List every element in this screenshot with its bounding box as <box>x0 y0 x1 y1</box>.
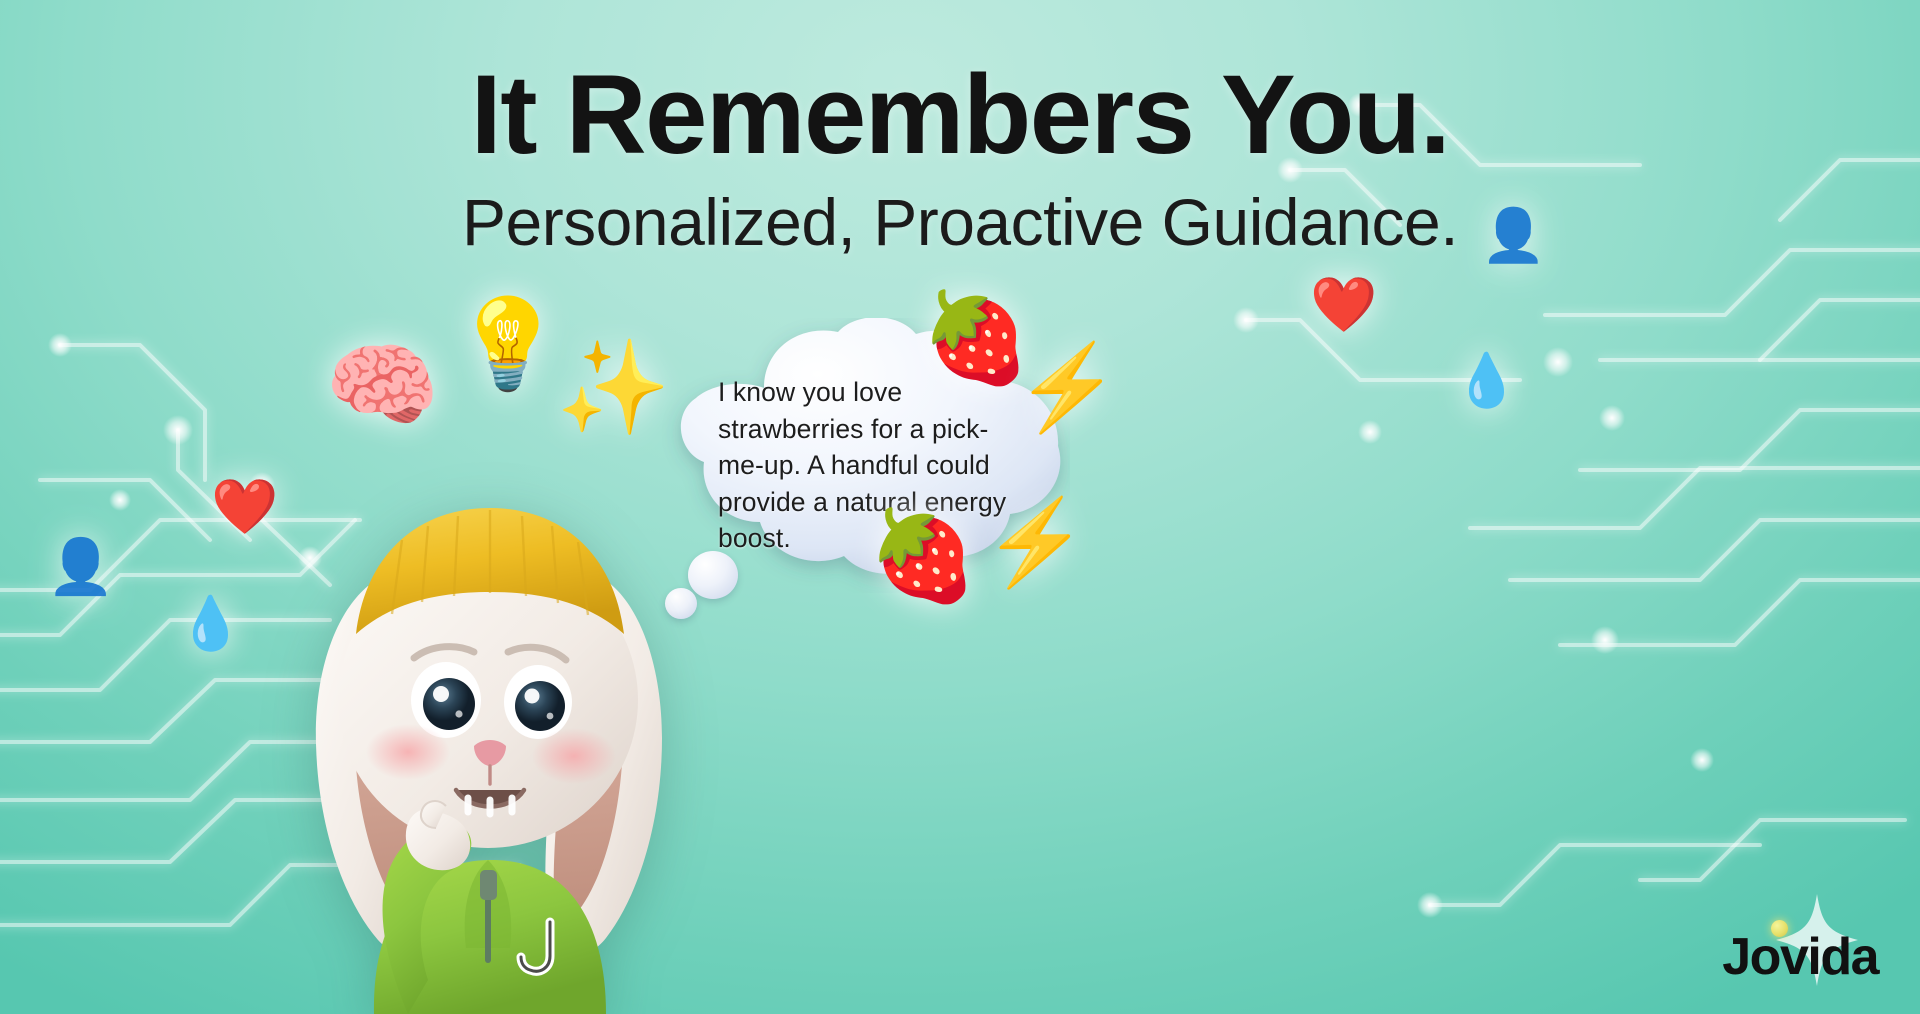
light-bulb-emoji: 💡 <box>453 300 563 388</box>
droplet-icon-right: 💧 <box>1454 355 1519 407</box>
brand-name: Jovida <box>1722 927 1878 987</box>
page-subtitle: Personalized, Proactive Guidance. <box>0 188 1920 257</box>
high-voltage-emoji-2: ⚡ <box>983 500 1088 584</box>
high-voltage-emoji-1: ⚡ <box>1015 345 1120 429</box>
heart-icon-right: ❤️ <box>1310 278 1377 332</box>
headline-block: It Remembers You. Personalized, Proactiv… <box>0 58 1920 258</box>
page-title: It Remembers You. <box>0 58 1920 172</box>
brand-logo[interactable]: Jovida <box>1722 922 1878 992</box>
strawberry-emoji-2: 🍓 <box>868 512 978 600</box>
jovida-rabbit-mascot <box>256 400 716 1014</box>
droplet-icon-left: 💧 <box>178 598 243 650</box>
person-icon-left: 👤 <box>47 540 114 594</box>
person-icon-right: 👤 <box>1481 210 1546 262</box>
promo-banner: ❤️ 👤 💧 👤 ❤️ 💧 It Remembers You. Personal… <box>0 0 1920 1014</box>
